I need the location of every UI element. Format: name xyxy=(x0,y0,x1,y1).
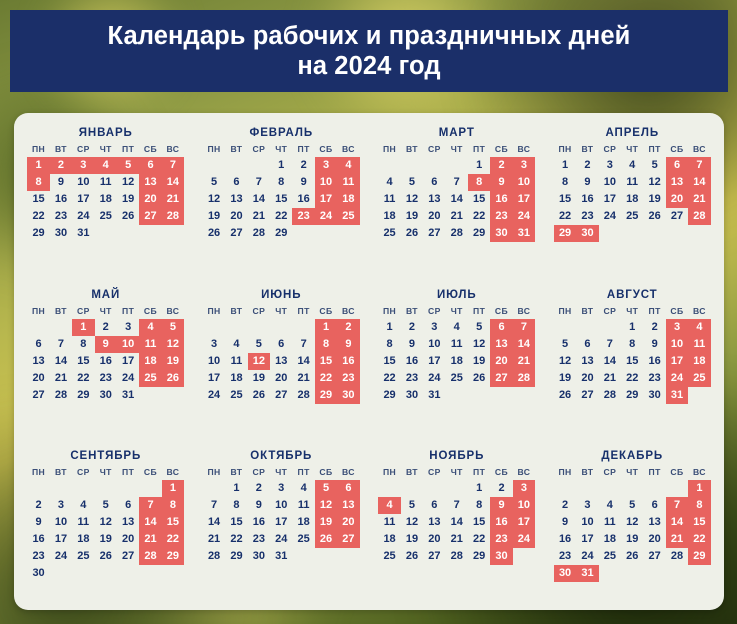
weekday-label-вс: ВС xyxy=(513,467,535,478)
day-cell-workday: 6 xyxy=(643,497,665,514)
day-cell-holiday: 6 xyxy=(139,157,161,174)
day-cell-empty xyxy=(117,565,139,582)
weekday-label-пн: ПН xyxy=(27,467,49,478)
week-row: 13141516171819 xyxy=(27,353,184,370)
day-cell-holiday: 13 xyxy=(490,336,512,353)
day-cell-workday: 27 xyxy=(643,548,665,565)
week-row: 16171819202122 xyxy=(554,531,711,548)
day-cell-workday: 13 xyxy=(423,191,445,208)
day-cell-holiday: 23 xyxy=(337,370,359,387)
day-cell-empty xyxy=(117,225,139,242)
weekday-label-чт: ЧТ xyxy=(621,467,643,478)
day-cell-holiday: 10 xyxy=(666,336,688,353)
day-cell-workday: 22 xyxy=(621,370,643,387)
day-cell-workday: 1 xyxy=(468,480,490,497)
day-cell-empty xyxy=(513,548,535,565)
day-cell-workday: 18 xyxy=(225,370,247,387)
day-cell-workday: 3 xyxy=(599,157,621,174)
weekday-label-пт: ПТ xyxy=(468,306,490,317)
day-cell-workday: 11 xyxy=(621,174,643,191)
month-name: ДЕКАБРЬ xyxy=(601,450,663,462)
weekday-label-сб: СБ xyxy=(666,144,688,155)
day-cell-workday: 2 xyxy=(27,497,49,514)
day-cell-workday: 12 xyxy=(401,191,423,208)
day-cell-workday: 9 xyxy=(401,336,423,353)
week-row: 22232425262728 xyxy=(554,208,711,225)
week-row: 24252627282930 xyxy=(203,387,360,404)
day-cell-holiday: 30 xyxy=(554,565,576,582)
day-cell-workday: 26 xyxy=(621,548,643,565)
weekday-label-сб: СБ xyxy=(139,306,161,317)
day-cell-holiday: 4 xyxy=(139,319,161,336)
day-cell-workday: 19 xyxy=(401,531,423,548)
day-cell-workday: 28 xyxy=(292,387,314,404)
day-cell-workday: 20 xyxy=(423,208,445,225)
day-cell-holiday: 25 xyxy=(337,208,359,225)
day-cell-holiday: 29 xyxy=(688,548,710,565)
day-cell-workday: 15 xyxy=(72,353,94,370)
day-cell-empty xyxy=(292,319,314,336)
day-cell-holiday: 25 xyxy=(139,370,161,387)
weekday-header-row: ПНВТСРЧТПТСБВС xyxy=(378,306,535,317)
day-cell-workday: 3 xyxy=(117,319,139,336)
day-cell-holiday: 18 xyxy=(337,191,359,208)
month-2: ФЕВРАЛЬПНВТСРЧТПТСБВС1234567891011121314… xyxy=(194,121,370,283)
week-row: 11121314151617 xyxy=(378,191,535,208)
week-row: 26272829 xyxy=(203,225,360,242)
weekday-label-чт: ЧТ xyxy=(270,467,292,478)
day-cell-workday: 23 xyxy=(248,531,270,548)
day-cell-empty xyxy=(378,157,400,174)
weekday-label-чт: ЧТ xyxy=(621,306,643,317)
day-cell-empty xyxy=(72,480,94,497)
day-cell-workday: 29 xyxy=(468,225,490,242)
day-cell-holiday: 22 xyxy=(315,370,337,387)
day-cell-workday: 15 xyxy=(27,191,49,208)
weekday-header-row: ПНВТСРЧТПТСБВС xyxy=(203,467,360,478)
day-cell-workday: 9 xyxy=(554,514,576,531)
day-cell-workday: 20 xyxy=(423,531,445,548)
weekday-label-вс: ВС xyxy=(337,144,359,155)
day-cell-workday: 22 xyxy=(225,531,247,548)
day-cell-holiday: 29 xyxy=(162,548,184,565)
day-cell-holiday: 1 xyxy=(162,480,184,497)
week-row: 1234567 xyxy=(554,157,711,174)
day-cell-workday: 26 xyxy=(643,208,665,225)
day-cell-workday: 26 xyxy=(401,548,423,565)
day-cell-holiday: 23 xyxy=(292,208,314,225)
day-cell-workday: 12 xyxy=(554,353,576,370)
day-cell-holiday: 28 xyxy=(688,208,710,225)
day-cell-empty xyxy=(666,480,688,497)
day-cell-workday: 20 xyxy=(270,370,292,387)
month-3: МАРТПНВТСРЧТПТСБВС1234567891011121314151… xyxy=(369,121,545,283)
day-cell-holiday: 8 xyxy=(27,174,49,191)
day-cell-empty xyxy=(490,387,512,404)
day-cell-workday: 19 xyxy=(401,208,423,225)
day-cell-holiday: 24 xyxy=(315,208,337,225)
day-cell-workday: 13 xyxy=(576,353,598,370)
week-row: 293031 xyxy=(27,225,184,242)
weekday-label-чт: ЧТ xyxy=(270,144,292,155)
day-cell-workday: 22 xyxy=(270,208,292,225)
month-name: СЕНТЯБРЬ xyxy=(70,450,141,462)
day-cell-workday: 6 xyxy=(117,497,139,514)
day-cell-workday: 16 xyxy=(554,531,576,548)
day-cell-workday: 4 xyxy=(72,497,94,514)
day-cell-workday: 2 xyxy=(576,157,598,174)
day-cell-workday: 9 xyxy=(50,174,72,191)
weekday-label-ср: СР xyxy=(423,467,445,478)
day-cell-workday: 8 xyxy=(621,336,643,353)
weekday-label-чт: ЧТ xyxy=(446,144,468,155)
day-cell-holiday: 5 xyxy=(162,319,184,336)
day-cell-holiday: 10 xyxy=(513,174,535,191)
day-cell-holiday: 30 xyxy=(490,225,512,242)
day-cell-workday: 8 xyxy=(225,497,247,514)
day-cell-workday: 27 xyxy=(27,387,49,404)
day-cell-workday: 27 xyxy=(666,208,688,225)
day-cell-holiday: 4 xyxy=(688,319,710,336)
day-cell-workday: 29 xyxy=(378,387,400,404)
day-cell-workday: 7 xyxy=(599,336,621,353)
weekday-label-вт: ВТ xyxy=(50,306,72,317)
week-row: 16171819202122 xyxy=(27,531,184,548)
weekday-label-чт: ЧТ xyxy=(621,144,643,155)
day-cell-workday: 13 xyxy=(225,191,247,208)
day-cell-workday: 21 xyxy=(599,370,621,387)
day-cell-holiday: 14 xyxy=(688,174,710,191)
weekday-label-пт: ПТ xyxy=(117,144,139,155)
day-cell-workday: 24 xyxy=(117,370,139,387)
week-row: 12131415161718 xyxy=(203,191,360,208)
day-cell-workday: 25 xyxy=(72,548,94,565)
day-cell-empty xyxy=(554,319,576,336)
weekday-label-сб: СБ xyxy=(490,467,512,478)
day-cell-workday: 13 xyxy=(27,353,49,370)
day-cell-workday: 25 xyxy=(446,370,468,387)
day-cell-workday: 7 xyxy=(248,174,270,191)
day-cell-workday: 16 xyxy=(50,191,72,208)
day-cell-holiday: 30 xyxy=(576,225,598,242)
month-6: ИЮНЬПНВТСРЧТПТСБВС1234567891011121314151… xyxy=(194,283,370,445)
day-cell-workday: 14 xyxy=(292,353,314,370)
day-cell-holiday: 28 xyxy=(139,548,161,565)
day-cell-workday: 4 xyxy=(378,174,400,191)
day-cell-workday: 6 xyxy=(423,174,445,191)
day-cell-workday: 24 xyxy=(599,208,621,225)
day-cell-holiday: 9 xyxy=(490,497,512,514)
day-cell-holiday: 1 xyxy=(688,480,710,497)
day-cell-workday: 19 xyxy=(621,531,643,548)
day-cell-holiday: 27 xyxy=(337,531,359,548)
day-cell-workday: 14 xyxy=(50,353,72,370)
day-cell-workday: 11 xyxy=(599,514,621,531)
day-cell-holiday: 21 xyxy=(139,531,161,548)
day-cell-holiday: 28 xyxy=(513,370,535,387)
week-row: 25262728293031 xyxy=(378,225,535,242)
day-cell-workday: 22 xyxy=(468,208,490,225)
day-cell-holiday: 12 xyxy=(248,353,270,370)
day-cell-empty xyxy=(315,548,337,565)
day-cell-holiday: 4 xyxy=(378,497,400,514)
week-row: 18192021222324 xyxy=(378,208,535,225)
weekday-label-вт: ВТ xyxy=(401,306,423,317)
weekday-label-вс: ВС xyxy=(162,306,184,317)
day-cell-workday: 22 xyxy=(378,370,400,387)
weekday-header-row: ПНВТСРЧТПТСБВС xyxy=(378,144,535,155)
day-cell-workday: 14 xyxy=(446,191,468,208)
month-name: АПРЕЛЬ xyxy=(606,127,660,139)
day-cell-workday: 27 xyxy=(423,548,445,565)
day-cell-workday: 1 xyxy=(225,480,247,497)
week-row: 2728293031 xyxy=(27,387,184,404)
day-cell-workday: 28 xyxy=(599,387,621,404)
weekday-label-пт: ПТ xyxy=(468,467,490,478)
day-cell-workday: 5 xyxy=(468,319,490,336)
day-cell-workday: 1 xyxy=(378,319,400,336)
day-cell-workday: 27 xyxy=(423,225,445,242)
day-cell-workday: 29 xyxy=(72,387,94,404)
day-cell-holiday: 3 xyxy=(666,319,688,336)
day-cell-workday: 29 xyxy=(621,387,643,404)
weekday-header-row: ПНВТСРЧТПТСБВС xyxy=(27,467,184,478)
day-cell-holiday: 20 xyxy=(666,191,688,208)
month-7: ИЮЛЬПНВТСРЧТПТСБВС1234567891011121314151… xyxy=(369,283,545,445)
month-4: АПРЕЛЬПНВТСРЧТПТСБВС12345678910111213141… xyxy=(545,121,721,283)
day-cell-empty xyxy=(292,548,314,565)
day-cell-workday: 19 xyxy=(95,531,117,548)
day-cell-holiday: 31 xyxy=(666,387,688,404)
day-cell-workday: 28 xyxy=(666,548,688,565)
weekday-label-ср: СР xyxy=(423,306,445,317)
week-row: 293031 xyxy=(378,387,535,404)
day-cell-holiday: 23 xyxy=(490,208,512,225)
day-cell-holiday: 2 xyxy=(337,319,359,336)
day-cell-empty xyxy=(27,319,49,336)
day-cell-holiday: 14 xyxy=(139,514,161,531)
day-cell-holiday: 24 xyxy=(513,531,535,548)
day-cell-holiday: 23 xyxy=(490,531,512,548)
day-cell-workday: 12 xyxy=(95,514,117,531)
day-cell-workday: 17 xyxy=(576,531,598,548)
day-cell-empty xyxy=(621,565,643,582)
weekday-label-пн: ПН xyxy=(554,467,576,478)
day-cell-holiday: 7 xyxy=(139,497,161,514)
month-name: НОЯБРЬ xyxy=(429,450,484,462)
day-cell-workday: 11 xyxy=(378,514,400,531)
day-cell-workday: 4 xyxy=(225,336,247,353)
month-1: ЯНВАРЬПНВТСРЧТПТСБВС12345678910111213141… xyxy=(18,121,194,283)
day-cell-workday: 31 xyxy=(117,387,139,404)
day-cell-workday: 29 xyxy=(225,548,247,565)
day-cell-workday: 24 xyxy=(50,548,72,565)
weekday-label-ср: СР xyxy=(423,144,445,155)
week-row: 1234 xyxy=(554,319,711,336)
week-row: 1234567 xyxy=(27,157,184,174)
weekday-header-row: ПНВТСРЧТПТСБВС xyxy=(27,306,184,317)
day-cell-empty xyxy=(599,565,621,582)
day-cell-workday: 24 xyxy=(423,370,445,387)
day-cell-workday: 9 xyxy=(576,174,598,191)
day-cell-holiday: 9 xyxy=(490,174,512,191)
day-cell-empty xyxy=(643,480,665,497)
day-cell-workday: 17 xyxy=(270,514,292,531)
day-cell-holiday: 30 xyxy=(490,548,512,565)
day-cell-holiday: 13 xyxy=(666,174,688,191)
month-9: СЕНТЯБРЬПНВТСРЧТПТСБВС123456789101112131… xyxy=(18,444,194,606)
day-cell-holiday: 5 xyxy=(117,157,139,174)
day-cell-workday: 15 xyxy=(378,353,400,370)
weekday-label-пн: ПН xyxy=(27,144,49,155)
weekday-label-чт: ЧТ xyxy=(446,467,468,478)
day-cell-holiday: 22 xyxy=(688,531,710,548)
weekday-label-вс: ВС xyxy=(513,306,535,317)
day-cell-holiday: 26 xyxy=(315,531,337,548)
day-cell-holiday: 14 xyxy=(162,174,184,191)
day-cell-holiday: 2 xyxy=(490,157,512,174)
weekday-label-вт: ВТ xyxy=(576,467,598,478)
day-cell-holiday: 31 xyxy=(576,565,598,582)
day-cell-holiday: 20 xyxy=(139,191,161,208)
day-cell-workday: 5 xyxy=(401,174,423,191)
weekday-label-пт: ПТ xyxy=(643,144,665,155)
day-cell-workday: 8 xyxy=(468,497,490,514)
day-cell-workday: 6 xyxy=(270,336,292,353)
week-row: 2345678 xyxy=(27,497,184,514)
weekday-header-row: ПНВТСРЧТПТСБВС xyxy=(554,467,711,478)
weekday-label-вт: ВТ xyxy=(225,144,247,155)
day-cell-workday: 26 xyxy=(95,548,117,565)
weekday-label-чт: ЧТ xyxy=(270,306,292,317)
weekday-label-вс: ВС xyxy=(162,467,184,478)
week-row: 1234567 xyxy=(378,319,535,336)
week-row: 9101112131415 xyxy=(554,514,711,531)
day-cell-workday: 2 xyxy=(292,157,314,174)
day-cell-workday: 26 xyxy=(248,387,270,404)
day-cell-workday: 17 xyxy=(423,353,445,370)
day-cell-workday: 30 xyxy=(401,387,423,404)
day-cell-workday: 21 xyxy=(248,208,270,225)
day-cell-holiday: 21 xyxy=(666,531,688,548)
day-cell-empty xyxy=(50,565,72,582)
month-11: НОЯБРЬПНВТСРЧТПТСБВС12345678910111213141… xyxy=(369,444,545,606)
weekday-label-ср: СР xyxy=(599,306,621,317)
day-cell-workday: 19 xyxy=(203,208,225,225)
weekday-label-ср: СР xyxy=(72,144,94,155)
day-cell-empty xyxy=(270,319,292,336)
day-cell-empty xyxy=(688,387,710,404)
day-cell-workday: 7 xyxy=(292,336,314,353)
day-cell-empty xyxy=(446,480,468,497)
day-cell-workday: 10 xyxy=(576,514,598,531)
day-cell-workday: 12 xyxy=(643,174,665,191)
day-cell-empty xyxy=(139,480,161,497)
weekday-label-вт: ВТ xyxy=(576,306,598,317)
week-row: 23242526272829 xyxy=(27,548,184,565)
day-cell-workday: 23 xyxy=(50,208,72,225)
day-cell-workday: 25 xyxy=(292,531,314,548)
day-cell-workday: 14 xyxy=(446,514,468,531)
page-title: Календарь рабочих и праздничных дней на … xyxy=(94,21,645,81)
day-cell-holiday: 6 xyxy=(337,480,359,497)
day-cell-workday: 11 xyxy=(225,353,247,370)
day-cell-empty xyxy=(248,319,270,336)
day-cell-workday: 12 xyxy=(117,174,139,191)
day-cell-workday: 28 xyxy=(203,548,225,565)
month-name: ИЮЛЬ xyxy=(437,289,477,301)
weekday-label-ср: СР xyxy=(599,467,621,478)
day-cell-empty xyxy=(599,319,621,336)
day-cell-workday: 25 xyxy=(95,208,117,225)
weekday-label-пн: ПН xyxy=(378,306,400,317)
day-cell-workday: 27 xyxy=(576,387,598,404)
weekday-label-пт: ПТ xyxy=(292,144,314,155)
day-cell-workday: 8 xyxy=(72,336,94,353)
day-cell-workday: 7 xyxy=(446,174,468,191)
day-cell-workday: 15 xyxy=(468,514,490,531)
day-cell-workday: 21 xyxy=(446,531,468,548)
weekday-label-ср: СР xyxy=(72,306,94,317)
day-cell-workday: 9 xyxy=(248,497,270,514)
day-cell-workday: 24 xyxy=(72,208,94,225)
weekday-header-row: ПНВТСРЧТПТСБВС xyxy=(378,467,535,478)
month-name: МАРТ xyxy=(439,127,475,139)
week-row: 123456 xyxy=(203,480,360,497)
day-cell-workday: 2 xyxy=(490,480,512,497)
day-cell-empty xyxy=(401,480,423,497)
day-cell-workday: 29 xyxy=(468,548,490,565)
day-cell-workday: 18 xyxy=(292,514,314,531)
day-cell-workday: 4 xyxy=(446,319,468,336)
weekday-label-пн: ПН xyxy=(203,306,225,317)
day-cell-empty xyxy=(446,157,468,174)
day-cell-workday: 11 xyxy=(292,497,314,514)
weekday-label-вс: ВС xyxy=(337,306,359,317)
day-cell-holiday: 28 xyxy=(162,208,184,225)
day-cell-workday: 12 xyxy=(468,336,490,353)
day-cell-workday: 4 xyxy=(621,157,643,174)
day-cell-workday: 3 xyxy=(576,497,598,514)
day-cell-holiday: 29 xyxy=(315,387,337,404)
day-cell-workday: 5 xyxy=(248,336,270,353)
day-cell-workday: 14 xyxy=(248,191,270,208)
week-row: 891011121314 xyxy=(378,336,535,353)
day-cell-holiday: 29 xyxy=(554,225,576,242)
week-row: 1234 xyxy=(203,157,360,174)
week-row: 891011121314 xyxy=(554,174,711,191)
day-cell-workday: 15 xyxy=(270,191,292,208)
page-title-banner: Календарь рабочих и праздничных дней на … xyxy=(10,10,728,92)
day-cell-workday: 4 xyxy=(292,480,314,497)
day-cell-workday: 18 xyxy=(72,531,94,548)
day-cell-holiday: 21 xyxy=(513,353,535,370)
day-cell-workday: 30 xyxy=(27,565,49,582)
day-cell-holiday: 9 xyxy=(95,336,117,353)
day-cell-workday: 5 xyxy=(621,497,643,514)
day-cell-empty xyxy=(513,387,535,404)
day-cell-workday: 19 xyxy=(643,191,665,208)
weekday-label-чт: ЧТ xyxy=(95,144,117,155)
day-cell-empty xyxy=(423,480,445,497)
day-cell-holiday: 16 xyxy=(490,514,512,531)
day-cell-holiday: 1 xyxy=(72,319,94,336)
week-row: 12 xyxy=(203,319,360,336)
weekday-label-ср: СР xyxy=(248,467,270,478)
week-row: 15161718192021 xyxy=(554,191,711,208)
day-cell-workday: 25 xyxy=(225,387,247,404)
weekday-label-сб: СБ xyxy=(315,467,337,478)
